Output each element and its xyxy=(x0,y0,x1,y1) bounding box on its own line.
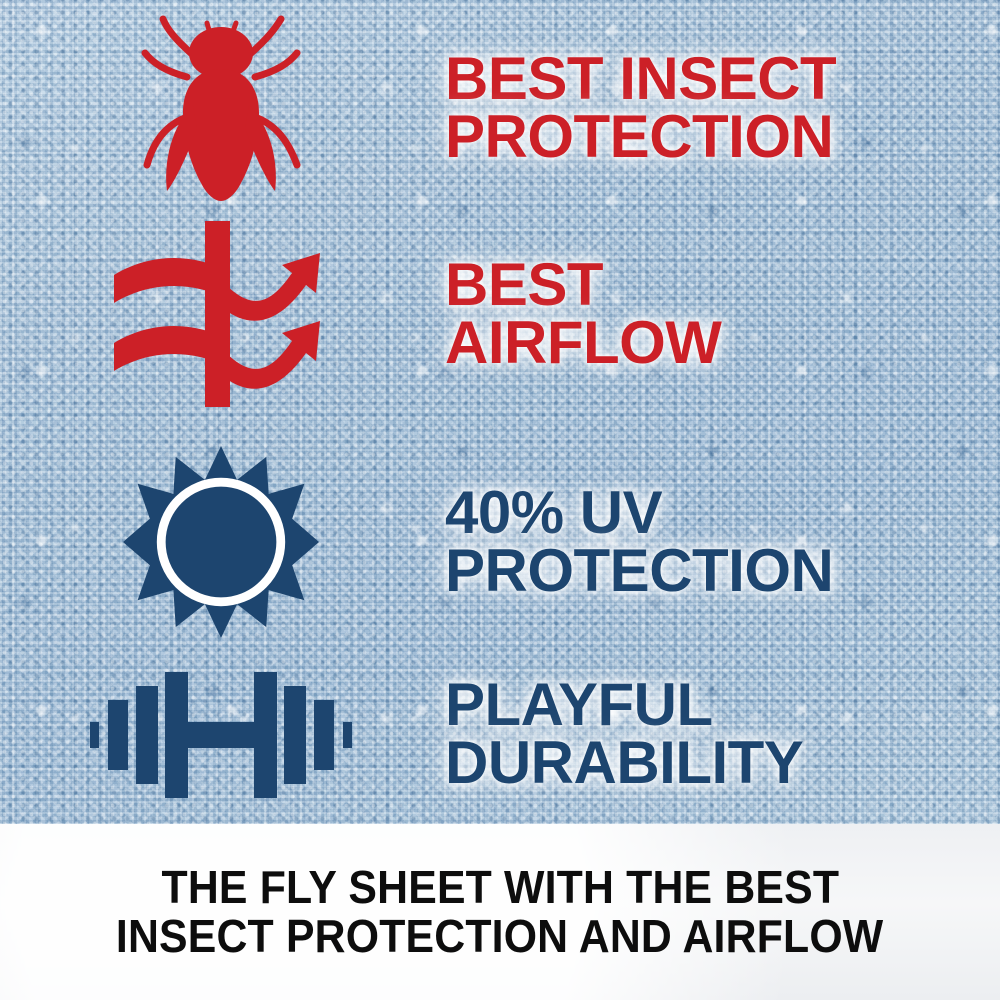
dumbbell-icon xyxy=(88,664,354,804)
insect-protection-label: BEST INSECT PROTECTION xyxy=(442,50,1000,165)
uv-protection-line-1: 40% UV xyxy=(445,484,1000,542)
caption-line-2: INSECT PROTECTION AND AIRFLOW xyxy=(116,912,883,961)
airflow-line-2: AIRFLOW xyxy=(445,314,1000,372)
uv-protection-label: 40% UV PROTECTION xyxy=(442,484,1000,599)
airflow-label: BEST AIRFLOW xyxy=(442,256,1000,371)
durability-line-2: DURABILITY xyxy=(445,734,1000,792)
sun-uv-icon xyxy=(123,444,319,640)
feature-row-insect-protection: BEST INSECT PROTECTION xyxy=(0,10,1000,206)
feature-row-durability: PLAYFUL DURABILITY xyxy=(0,648,1000,820)
caption-band: THE FLY SHEET WITH THE BEST INSECT PROTE… xyxy=(0,824,1000,1000)
dumbbell-icon-container xyxy=(0,648,442,820)
caption-line-1: THE FLY SHEET WITH THE BEST xyxy=(161,863,839,912)
fly-icon-container xyxy=(0,10,442,206)
feature-row-uv-protection: 40% UV PROTECTION xyxy=(0,440,1000,644)
airflow-through-barrier-icon xyxy=(106,219,336,409)
durability-line-1: PLAYFUL xyxy=(445,676,1000,734)
insect-protection-line-2: PROTECTION xyxy=(445,108,1000,166)
durability-label: PLAYFUL DURABILITY xyxy=(442,676,1000,791)
infographic-poster: BEST INSECT PROTECTION xyxy=(0,0,1000,1000)
airflow-icon-container xyxy=(0,214,442,414)
insect-protection-line-1: BEST INSECT xyxy=(445,50,1000,108)
sun-icon-container xyxy=(0,440,442,644)
fly-icon xyxy=(131,13,311,203)
uv-protection-line-2: PROTECTION xyxy=(445,542,1000,600)
airflow-line-1: BEST xyxy=(445,256,1000,314)
feature-row-airflow: BEST AIRFLOW xyxy=(0,214,1000,414)
